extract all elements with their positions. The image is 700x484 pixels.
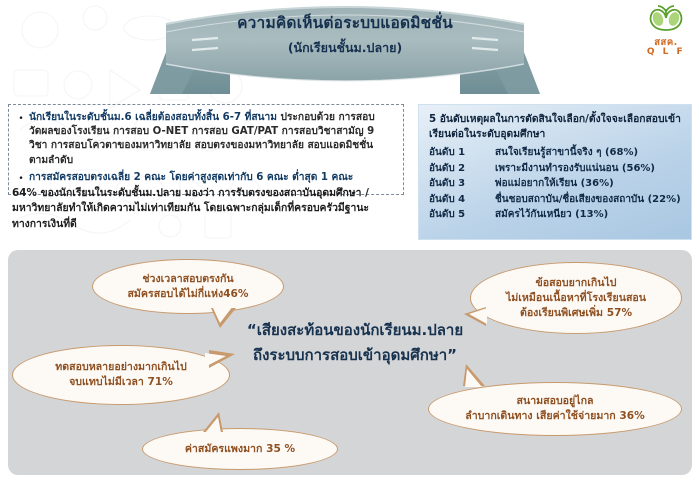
speech-bubble-tail-inner: [205, 417, 221, 433]
speech-bubble-line-1: ข้อสอบยากเกินไป: [506, 276, 646, 291]
speech-bubble-line-2: ไม่เหมือนเนื้อหาที่โรงเรียนสอน: [506, 291, 646, 306]
bullet-icon: •: [13, 171, 29, 186]
ranking-title: 5 อันดับเหตุผลในการตัดสินใจเลือก/ตั้งใจจ…: [429, 112, 683, 141]
ranking-row-label: อันดับ 2: [429, 161, 495, 177]
speech-bubble-line-2: สมัครสอบได้ไม่กี่แห่ง46%: [127, 287, 248, 302]
fact-item: • การสมัครสอบตรงเฉลี่ย 2 คณะ โดยค่าสูงสุ…: [13, 171, 395, 186]
summary-paragraph: 64% ของนักเรียนในระดับชั้นม.ปลาย มองว่า …: [12, 186, 404, 232]
ranking-row: อันดับ 4 ชื่นชอบสถาบัน/ชื่อเสียงของสถาบั…: [429, 192, 683, 208]
speech-bubble-text: ข้อสอบยากเกินไป ไม่เหมือนเนื้อหาที่โรงเร…: [506, 276, 646, 321]
infographic-page: ความคิดเห็นต่อระบบแอดมิชชั่น (นักเรียนชั…: [0, 0, 700, 484]
ranking-row-label: อันดับ 5: [429, 207, 495, 223]
speech-bubble-tail-inner: [465, 369, 482, 387]
ranking-row-value: เพราะมีงานทำรองรับแน่นอน (56%): [495, 161, 683, 177]
butterfly-leaf-icon: [644, 4, 688, 34]
speech-bubble-text: ค่าสมัครแพงมาก 35 %: [185, 442, 295, 457]
ranking-row-value: ชื่นชอบสถาบัน/ชื่อเสียงของสถาบัน (22%): [495, 192, 683, 208]
speech-bubble-line-2: จบแทบไม่มีเวลา 71%: [55, 375, 186, 390]
ranking-row-value: สมัครไว้กันเหนียว (13%): [495, 207, 683, 223]
ranking-row: อันดับ 5 สมัครไว้กันเหนียว (13%): [429, 207, 683, 223]
speech-bubble-line-1: ช่วงเวลาสอบตรงกัน: [127, 272, 248, 287]
speech-bubble-line-1: สนามสอบอยู่ไกล: [465, 394, 645, 409]
fact-text: นักเรียนในระดับชั้นม.6 เฉลี่ยต้องสอบทั้ง…: [29, 111, 395, 168]
ranking-row-label: อันดับ 4: [429, 192, 495, 208]
speech-bubble-exam-hard: ข้อสอบยากเกินไป ไม่เหมือนเนื้อหาที่โรงเร…: [470, 262, 682, 334]
ranking-row-label: อันดับ 1: [429, 145, 495, 161]
ranking-panel: 5 อันดับเหตุผลในการตัดสินใจเลือก/ตั้งใจจ…: [418, 104, 692, 240]
banner-title-group: ความคิดเห็นต่อระบบแอดมิชชั่น (นักเรียนชั…: [110, 14, 580, 56]
speech-bubble-line-2: ลำบากเดินทาง เสียค่าใช้จ่ายมาก 36%: [465, 409, 645, 424]
facts-box: • นักเรียนในระดับชั้นม.6 เฉลี่ยต้องสอบทั…: [8, 104, 404, 195]
speech-bubble-timing: ช่วงเวลาสอบตรงกัน สมัครสอบได้ไม่กี่แห่ง4…: [92, 259, 284, 314]
pull-quote: “เสียงสะท้อนของนักเรียนม.ปลาย ถึงระบบการ…: [205, 318, 505, 368]
speech-bubble-line-1: ทดสอบหลายอย่างมากเกินไป: [55, 360, 186, 375]
fact-item: • นักเรียนในระดับชั้นม.6 เฉลี่ยต้องสอบทั…: [13, 111, 395, 168]
fact-lead: นักเรียนในระดับชั้นม.6 เฉลี่ยต้องสอบทั้ง…: [29, 112, 277, 123]
ranking-row: อันดับ 1 สนใจเรียนรู้สาขานี้จริง ๆ (68%): [429, 145, 683, 161]
ranking-row: อันดับ 3 พ่อแม่อยากให้เรียน (36%): [429, 176, 683, 192]
speech-bubble-text: สนามสอบอยู่ไกล ลำบากเดินทาง เสียค่าใช้จ่…: [465, 394, 645, 424]
ranking-row-label: อันดับ 3: [429, 176, 495, 192]
qlf-logo: สสค. Q L F: [642, 4, 690, 57]
speech-bubble-tail-inner: [469, 308, 487, 324]
pull-quote-line-1: “เสียงสะท้อนของนักเรียนม.ปลาย: [205, 318, 505, 343]
page-title: ความคิดเห็นต่อระบบแอดมิชชั่น: [110, 14, 580, 33]
logo-text-english: Q L F: [642, 48, 690, 57]
pull-quote-line-2: ถึงระบบการสอบเข้าอุดมศึกษา”: [205, 343, 505, 368]
page-subtitle: (นักเรียนชั้นม.ปลาย): [110, 40, 580, 56]
speech-bubble-fee: ค่าสมัครแพงมาก 35 %: [142, 428, 338, 470]
speech-bubble-text: ช่วงเวลาสอบตรงกัน สมัครสอบได้ไม่กี่แห่ง4…: [127, 272, 248, 302]
speech-bubble-text: ทดสอบหลายอย่างมากเกินไป จบแทบไม่มีเวลา 7…: [55, 360, 186, 390]
ranking-row-value: สนใจเรียนรู้สาขานี้จริง ๆ (68%): [495, 145, 683, 161]
speech-bubble-too-many: ทดสอบหลายอย่างมากเกินไป จบแทบไม่มีเวลา 7…: [12, 345, 230, 405]
ranking-row-value: พ่อแม่อยากให้เรียน (36%): [495, 176, 683, 192]
speech-bubble-far-venue: สนามสอบอยู่ไกล ลำบากเดินทาง เสียค่าใช้จ่…: [428, 382, 682, 436]
speech-bubble-line-3: ต้องเรียนพิเศษเพิ่ม 57%: [506, 306, 646, 321]
ranking-row: อันดับ 2 เพราะมีงานทำรองรับแน่นอน (56%): [429, 161, 683, 177]
speech-bubble-tail-inner: [212, 306, 233, 323]
speech-bubble-tail-inner: [205, 353, 226, 367]
bullet-icon: •: [13, 111, 29, 126]
speech-bubble-line-1: ค่าสมัครแพงมาก 35 %: [185, 442, 295, 457]
fact-text: การสมัครสอบตรงเฉลี่ย 2 คณะ โดยค่าสูงสุดเ…: [29, 171, 395, 185]
